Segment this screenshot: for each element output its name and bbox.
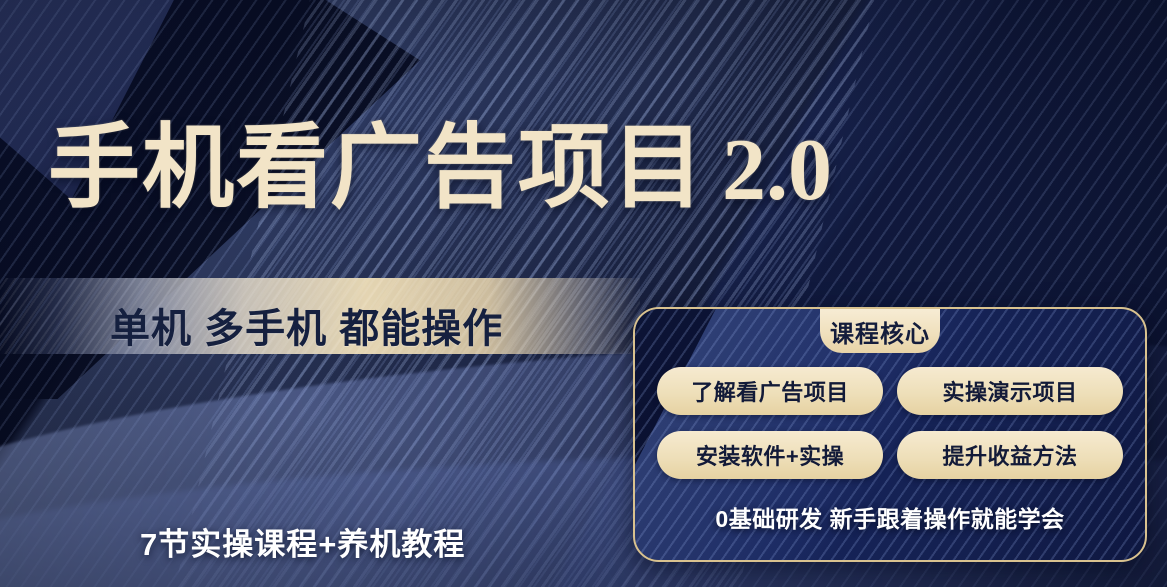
banner-bottom-note: 7节实操课程+养机教程 — [140, 519, 465, 564]
course-feature-pill[interactable]: 实操演示项目 — [897, 367, 1123, 415]
course-feature-pill[interactable]: 了解看广告项目 — [657, 367, 883, 415]
course-feature-label: 安装软件+实操 — [696, 439, 844, 471]
course-feature-pill[interactable]: 提升收益方法 — [897, 431, 1123, 479]
card-footer: 0基础研发 新手跟着操作就能学会 — [635, 500, 1145, 534]
course-feature-list: 了解看广告项目 实操演示项目 安装软件+实操 提升收益方法 — [635, 367, 1145, 479]
course-core-card: 课程核心 了解看广告项目 实操演示项目 安装软件+实操 提升收益方法 0基础研发… — [633, 307, 1147, 562]
banner-title: 手机看广告项目2.0 — [48, 122, 832, 215]
course-feature-pill[interactable]: 安装软件+实操 — [657, 431, 883, 479]
course-feature-label: 实操演示项目 — [942, 375, 1077, 407]
banner-title-version: 2.0 — [722, 122, 832, 219]
card-header-tab: 课程核心 — [820, 309, 940, 353]
card-header-tab-label: 课程核心 — [830, 314, 930, 349]
course-feature-label: 了解看广告项目 — [691, 375, 849, 407]
card-footer-label: 0基础研发 新手跟着操作就能学会 — [715, 506, 1064, 532]
course-feature-label: 提升收益方法 — [942, 439, 1077, 471]
promo-banner: 手机看广告项目2.0 单机 多手机 都能操作 7节实操课程+养机教程 课程核心 … — [0, 0, 1167, 587]
banner-title-main: 手机看广告项目 — [48, 117, 706, 219]
banner-subtitle: 单机 多手机 都能操作 — [110, 296, 503, 354]
